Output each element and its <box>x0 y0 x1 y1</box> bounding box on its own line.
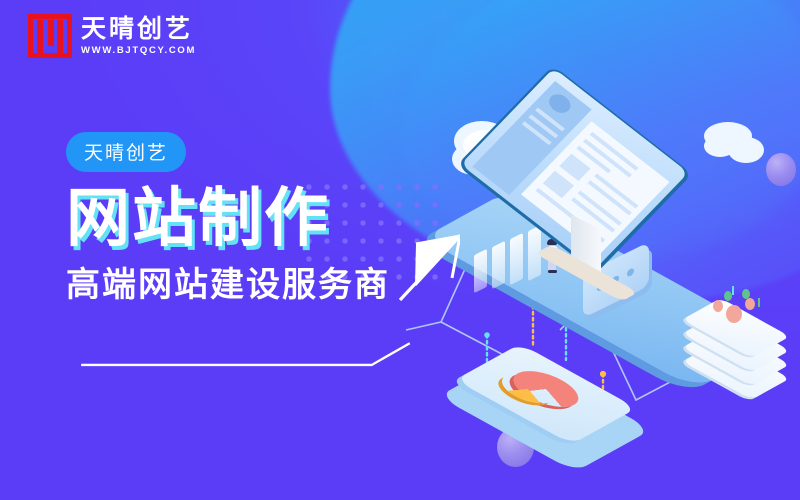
brand-badge: 天晴创艺 <box>66 132 186 172</box>
server-cube <box>688 292 784 378</box>
desktop-monitor <box>487 82 717 282</box>
cube-trees-icon <box>688 286 784 332</box>
page-title: 网站制作 <box>66 184 486 253</box>
promo-banner: 天晴创艺 WWW.BJTQCY.COM <box>0 0 800 500</box>
